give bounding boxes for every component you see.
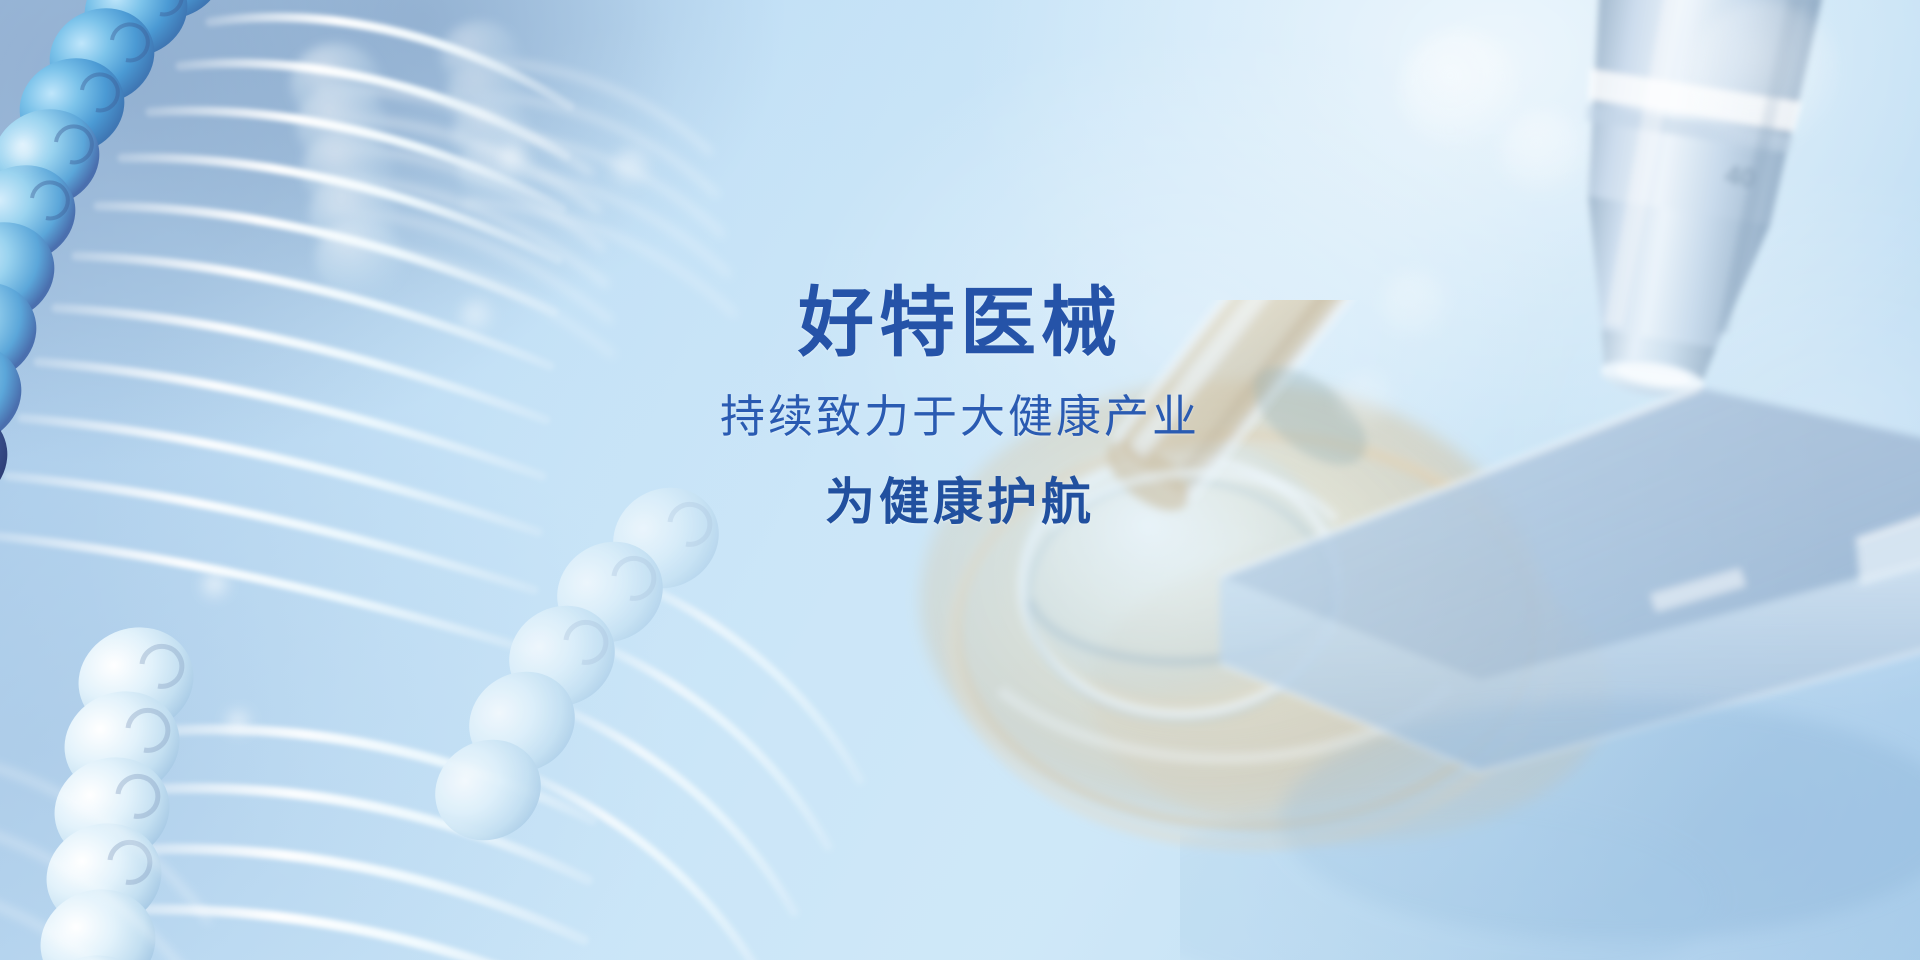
bokeh-orb	[12, 140, 38, 166]
bokeh-orb	[202, 572, 230, 600]
bokeh-orb	[612, 148, 652, 188]
company-slogan: 为健康护航	[0, 477, 1920, 527]
bokeh-orb	[1400, 30, 1520, 150]
bokeh-orb	[498, 144, 528, 174]
company-title: 好特医械	[0, 286, 1920, 362]
hero-banner: 40	[0, 0, 1920, 960]
bokeh-orb	[1500, 110, 1586, 196]
company-subtitle: 持续致力于大健康产业	[0, 394, 1920, 439]
hero-text-block: 好特医械 持续致力于大健康产业 为健康护航	[0, 286, 1920, 527]
bokeh-orb	[226, 710, 252, 736]
bokeh-orb	[1690, 0, 1840, 150]
